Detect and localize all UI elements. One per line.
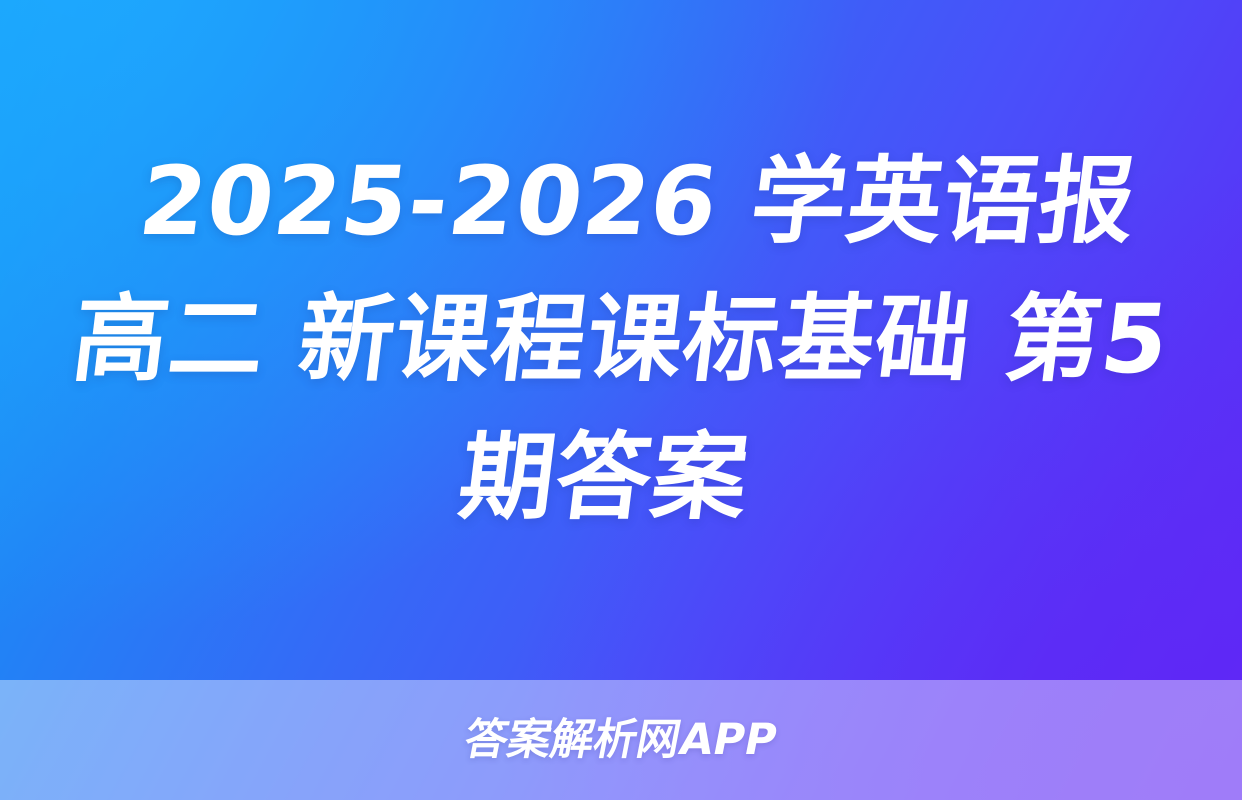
headline-container: 2025-2026 学英语报 高二 新课程课标基础 第5期答案 xyxy=(0,0,1242,680)
watermark-bar: 答案解析网APP xyxy=(0,680,1242,800)
page-title: 2025-2026 学英语报 高二 新课程课标基础 第5期答案 xyxy=(35,133,1208,547)
answer-poster-card: 2025-2026 学英语报 高二 新课程课标基础 第5期答案 答案解析网APP xyxy=(0,0,1242,800)
app-brand-watermark: 答案解析网APP xyxy=(461,719,781,762)
